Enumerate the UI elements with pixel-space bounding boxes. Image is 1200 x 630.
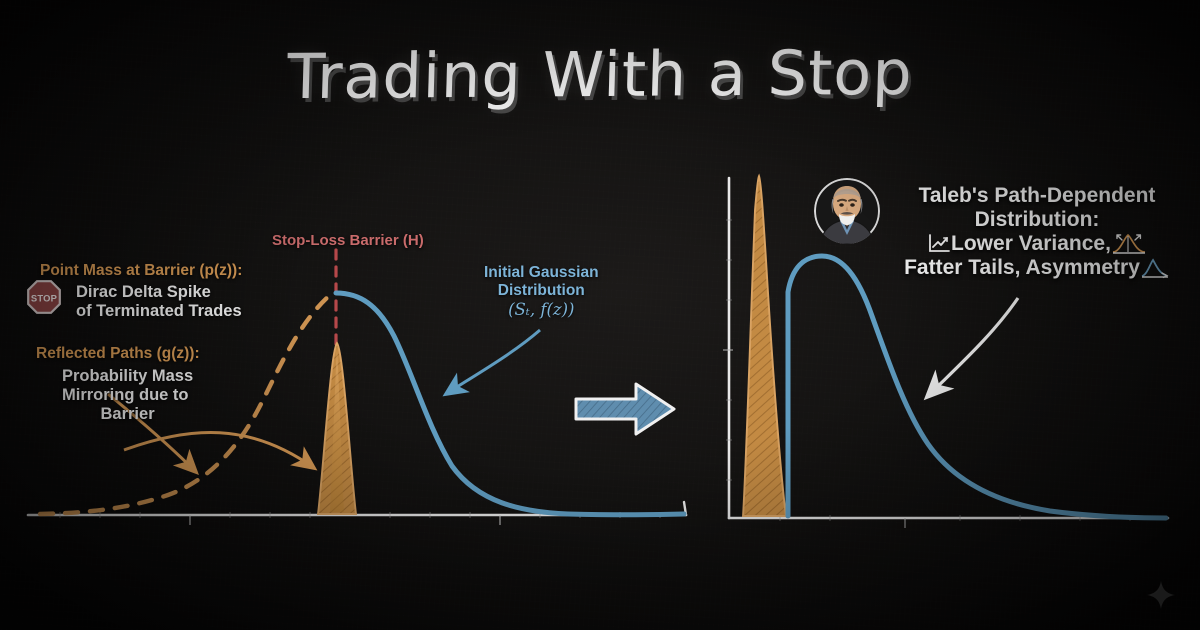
annotation-reflected-paths: Reflected Paths (g(z)):: [36, 345, 200, 363]
taleb-callout-line-3-wrap: Lower Variance,: [872, 232, 1200, 256]
path-dependent-curve: [788, 256, 1166, 518]
annotation-initial-gaussian-formula: (Sₜ, f(z)): [484, 300, 599, 319]
transition-arrow: [570, 378, 680, 440]
annotation-point-mass-body-line-2: of Terminated Trades: [76, 302, 242, 321]
asymmetry-icon: [1140, 256, 1170, 280]
annotation-point-mass-body-line-1: Dirac Delta Spike: [76, 283, 242, 302]
fat-tails-icon: [1111, 232, 1147, 256]
taleb-callout-line-1: Taleb's Path-Dependent: [872, 184, 1200, 208]
annotation-stop-loss-barrier: Stop-Loss Barrier (H): [272, 232, 424, 249]
annotation-stop-loss-barrier-heading: Stop-Loss Barrier (H): [272, 232, 424, 249]
annotation-reflected-paths-body-line-1: Probability Mass: [62, 367, 193, 386]
annotation-reflected-paths-body-line-2: Mirroring due to: [62, 386, 193, 405]
annotation-reflected-paths-body: Probability Mass Mirroring due to Barrie…: [62, 367, 193, 424]
sparkle-icon: [1146, 580, 1176, 610]
line-chart-icon: [927, 233, 951, 254]
initial-gaussian-pointer-arrow: [446, 330, 540, 394]
annotation-point-mass: Point Mass at Barrier (p(z)):: [40, 262, 242, 280]
taleb-callout-line-4: Fatter Tails, Asymmetry: [904, 256, 1140, 279]
taleb-callout: Taleb's Path-Dependent Distribution: Low…: [872, 184, 1200, 280]
taleb-avatar: [814, 178, 880, 244]
annotation-initial-gaussian: Initial Gaussian Distribution (Sₜ, f(z)): [484, 264, 599, 319]
annotation-reflected-paths-heading: Reflected Paths (g(z)):: [36, 345, 200, 363]
annotation-initial-gaussian-heading: Initial Gaussian: [484, 264, 599, 282]
slide-canvas: Trading With a Stop: [0, 0, 1200, 630]
stop-sign-icon: STOP: [27, 280, 61, 314]
annotation-point-mass-heading: Point Mass at Barrier (p(z)):: [40, 262, 242, 280]
taleb-callout-line-3: Lower Variance,: [951, 232, 1111, 255]
page-title: Trading With a Stop: [0, 34, 1200, 115]
annotation-point-mass-body: Dirac Delta Spike of Terminated Trades: [76, 283, 242, 321]
point-mass-pointer-arrow: [124, 432, 314, 468]
svg-text:STOP: STOP: [31, 292, 57, 303]
right-point-mass-spike: [743, 176, 786, 516]
path-dependent-pointer-arrow: [928, 298, 1018, 396]
taleb-callout-line-4-wrap: Fatter Tails, Asymmetry: [872, 256, 1200, 280]
taleb-callout-line-2: Distribution:: [872, 208, 1200, 232]
annotation-reflected-paths-body-line-3: Barrier: [62, 405, 193, 424]
annotation-initial-gaussian-line-2: Distribution: [484, 282, 599, 300]
